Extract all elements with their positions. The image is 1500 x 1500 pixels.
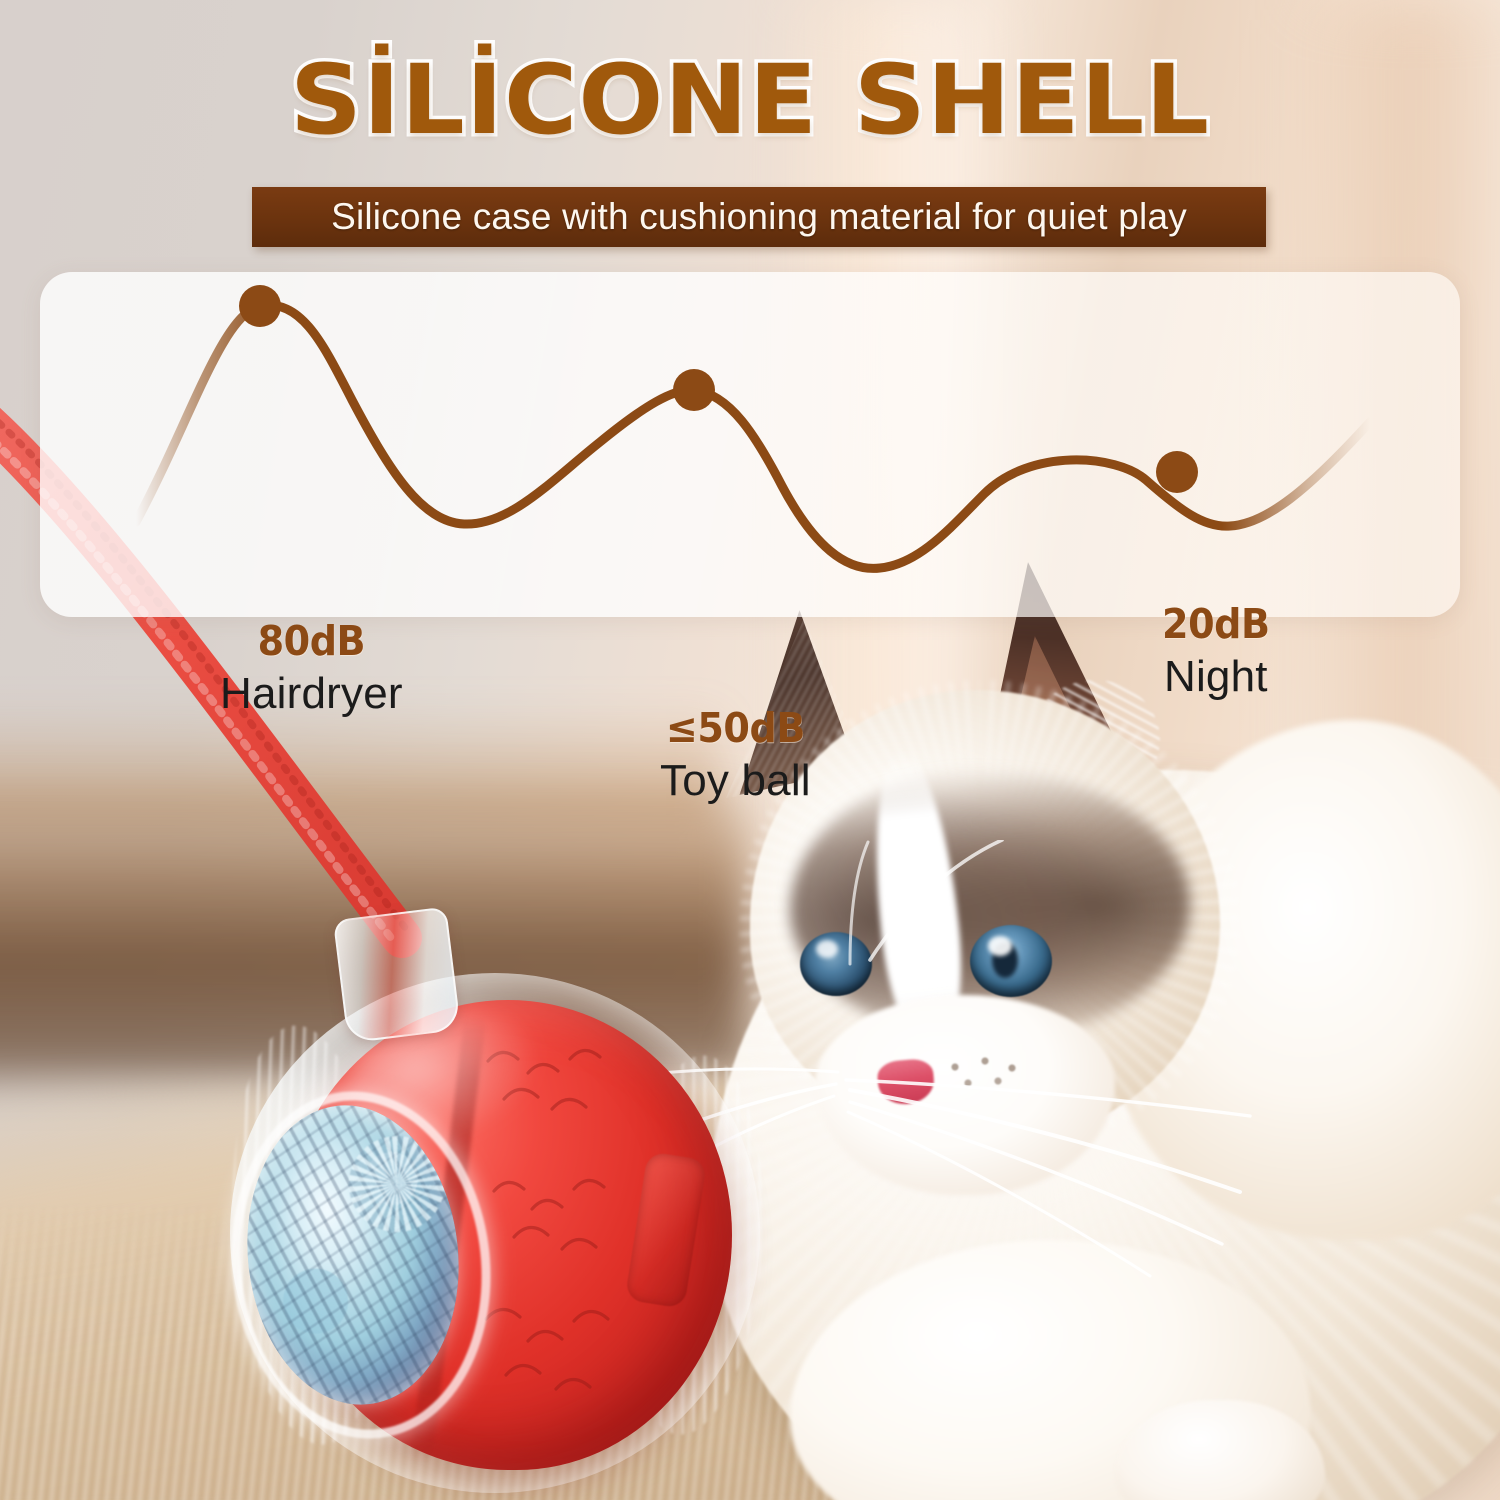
cat-eye-left-highlight [816,940,838,958]
wave-marker-toyball [673,369,715,411]
cat-whisker-dots [940,1052,1040,1102]
noise-value-night: 20dB [1162,600,1270,648]
noise-value-toyball: ≤50dB [665,704,805,752]
cat-toy-ball [222,905,782,1495]
page-title: SİLİCONE SHELL [0,52,1500,148]
noise-name-night: Night [1158,652,1274,702]
noise-wave-line [136,305,1370,568]
ball-rope-collar [333,907,461,1044]
noise-wave-chart [40,272,1460,617]
noise-value-hairdryer: 80dB [226,617,396,665]
product-infographic: SİLİCONE SHELL Silicone case with cushio… [0,0,1500,1500]
subtitle-banner: Silicone case with cushioning material f… [252,187,1266,247]
noise-name-toyball: Toy ball [660,756,811,806]
subtitle-text: Silicone case with cushioning material f… [331,196,1187,238]
noise-comparison-panel: 80dB Hairdryer ≤50dB Toy ball 20dB Night [40,272,1460,617]
wave-marker-night [1156,451,1198,493]
cat-eye-right-highlight [988,936,1012,956]
noise-label-night: 20dB Night [1158,600,1274,702]
noise-label-toyball: ≤50dB Toy ball [660,704,811,806]
cat-eye-left [800,932,872,996]
noise-name-hairdryer: Hairdryer [220,669,403,719]
noise-label-hairdryer: 80dB Hairdryer [220,617,403,719]
wave-marker-hairdryer [239,285,281,327]
